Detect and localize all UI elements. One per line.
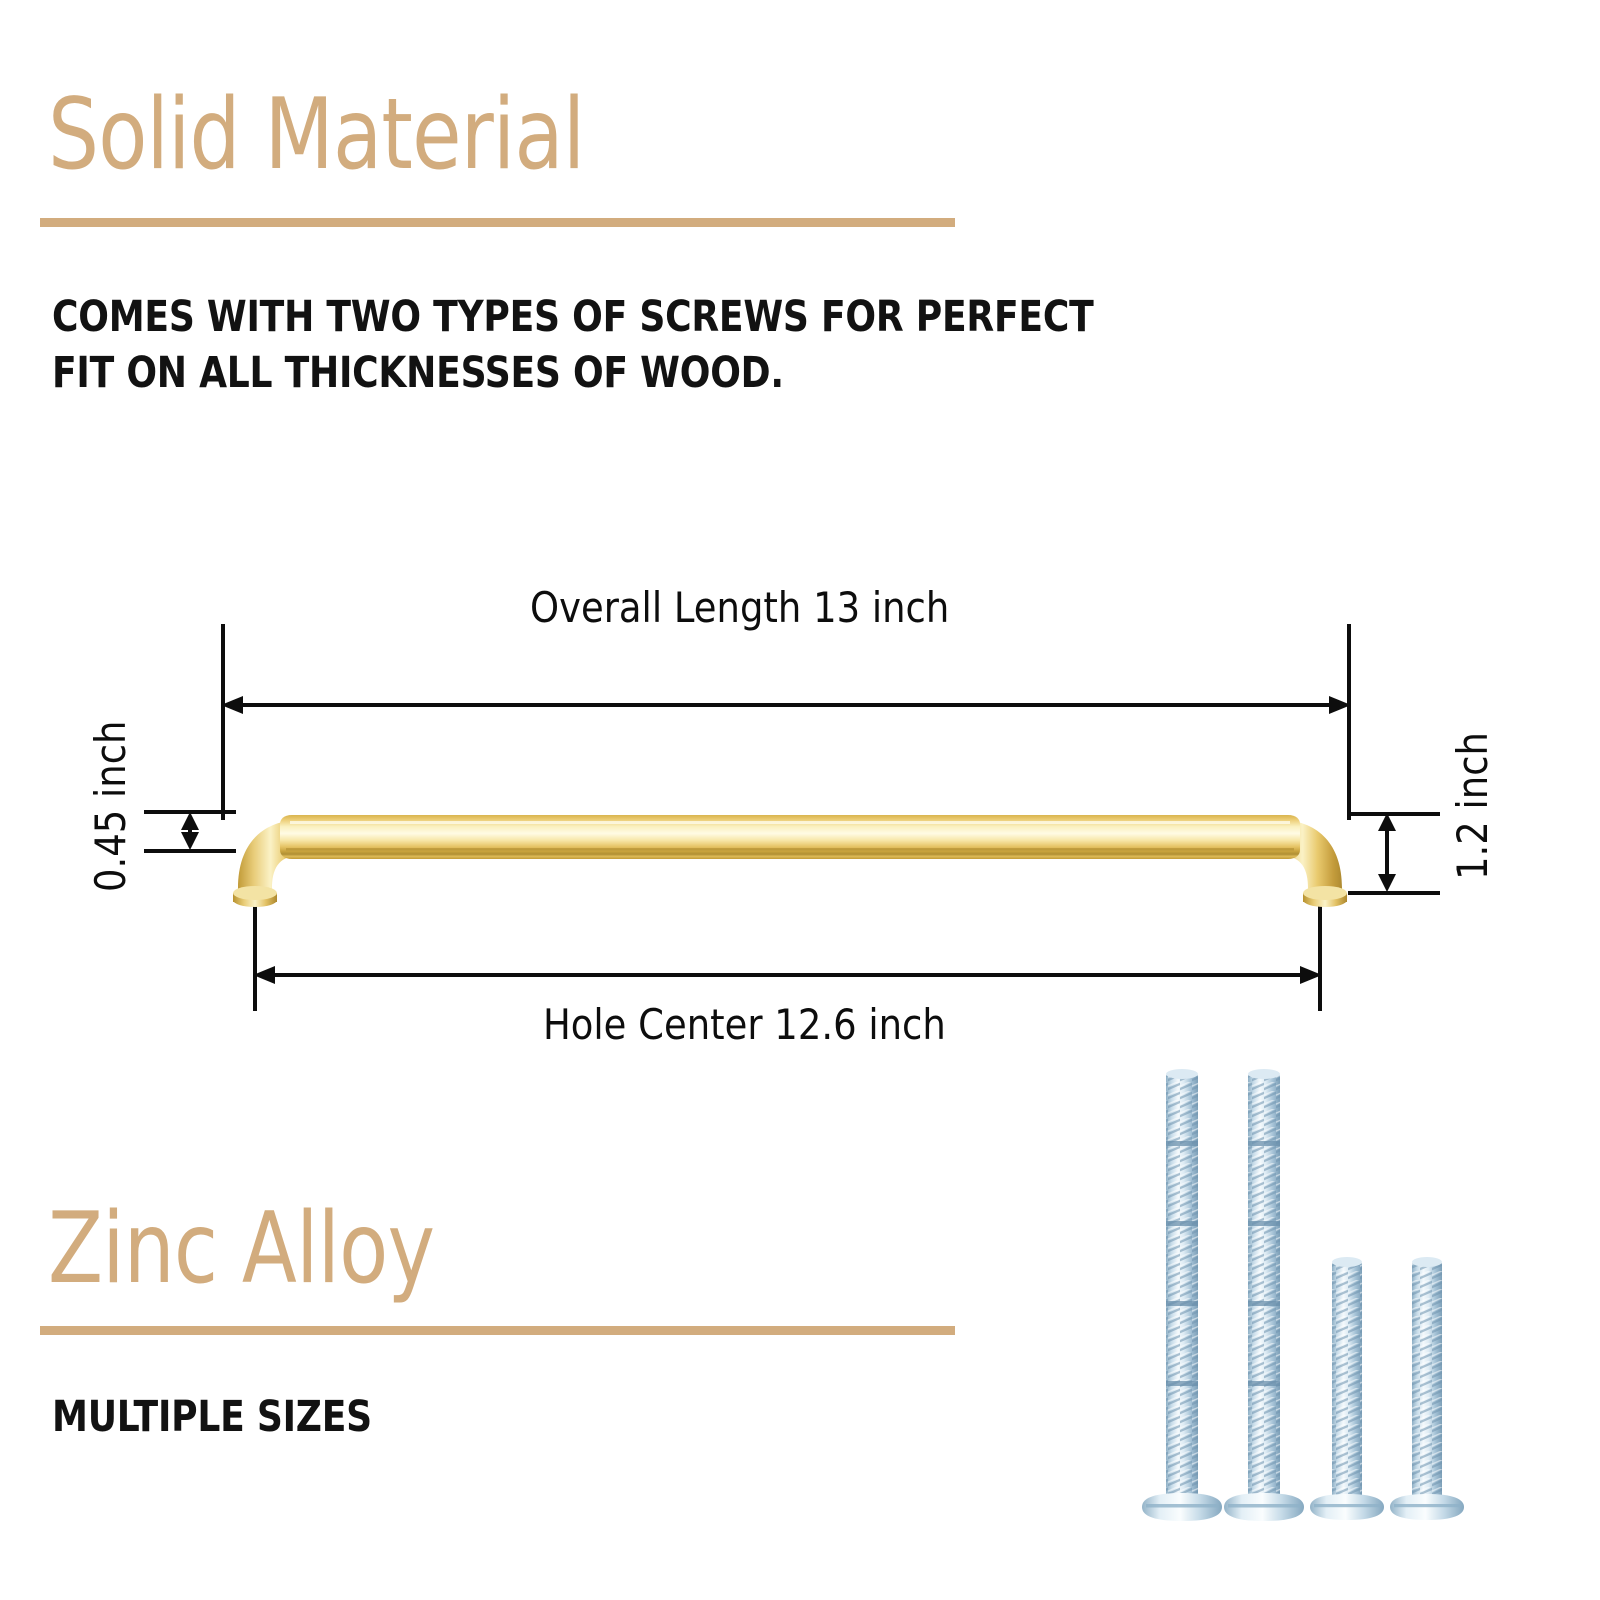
section-title-solid-material: Solid Material <box>48 78 584 192</box>
arrow-shaft <box>266 973 1309 977</box>
cabinet-pull-handle-image <box>200 760 1380 920</box>
dimension-label-hole-center: Hole Center 12.6 inch <box>543 1000 946 1049</box>
arrowhead-right <box>1300 966 1322 984</box>
accent-divider-bottom <box>40 1326 955 1335</box>
infographic-page: Solid Material COMES WITH TWO TYPES OF S… <box>0 0 1600 1600</box>
dimension-label-bar-thickness: 0.45 inch <box>86 721 135 892</box>
dimension-label-overall-length: Overall Length 13 inch <box>530 583 949 632</box>
arrowhead-bottom <box>1378 874 1396 892</box>
dimension-label-projection: 1.2 inch <box>1448 732 1497 880</box>
arrow-shaft <box>234 703 1338 707</box>
long-screw-2 <box>1224 1069 1304 1521</box>
arrowhead-bottom <box>181 832 199 850</box>
dimension-arrow-overall-length <box>221 692 1351 718</box>
mounting-screws-image <box>1120 1055 1480 1550</box>
dimension-arrow-hole-center <box>253 962 1322 988</box>
section-body-solid-material: COMES WITH TWO TYPES OF SCREWS FOR PERFE… <box>52 290 1514 402</box>
short-screw-1 <box>1310 1257 1384 1520</box>
arrowhead-right <box>1329 696 1351 714</box>
accent-divider-top <box>40 218 955 227</box>
long-screw-1 <box>1142 1069 1222 1521</box>
short-screw-2 <box>1390 1257 1464 1520</box>
section-title-zinc-alloy: Zinc Alloy <box>48 1192 434 1306</box>
